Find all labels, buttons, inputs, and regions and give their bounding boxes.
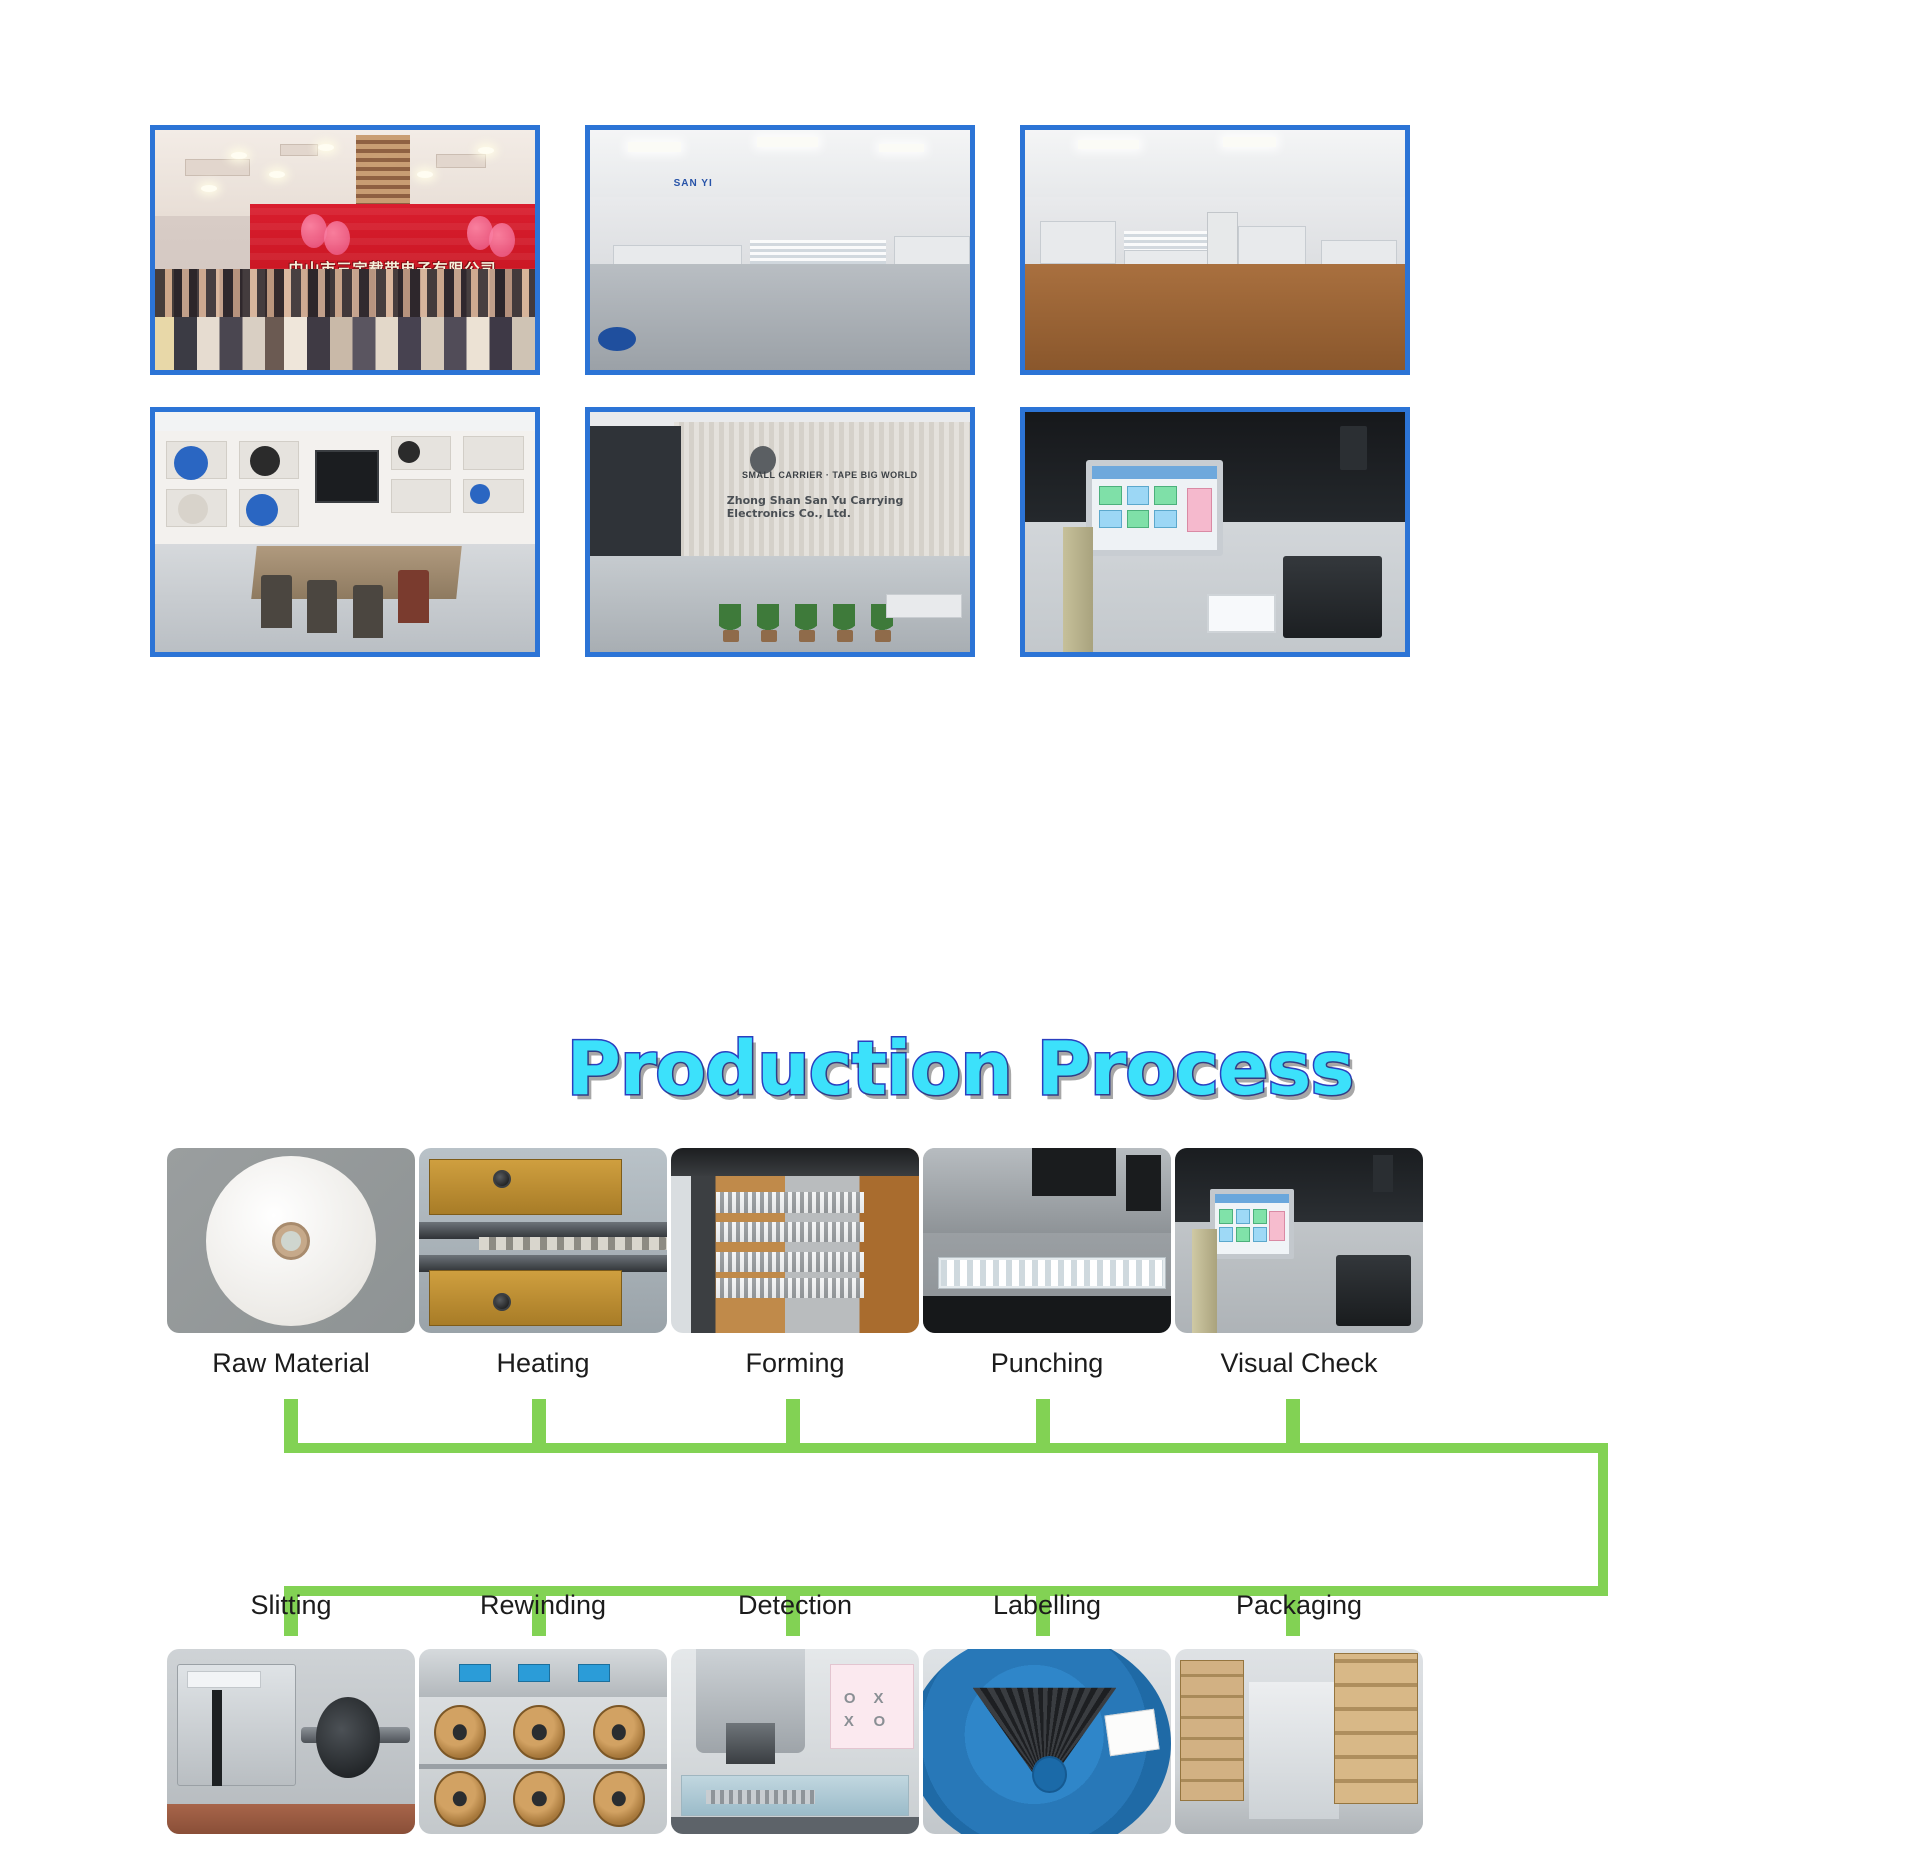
- process-row-bottom: O X X O: [167, 1649, 1427, 1834]
- office-cubicles-2-image: [1025, 130, 1405, 370]
- process-step-label-labelling: Labelling: [923, 1590, 1171, 1621]
- process-step-visual-check[interactable]: Visual Check: [1175, 1148, 1423, 1379]
- process-step-heating[interactable]: Heating: [419, 1148, 667, 1379]
- process-step-raw-material[interactable]: Raw Material: [167, 1148, 415, 1379]
- production-process-title: Production Process: [0, 1032, 1920, 1106]
- gallery-photo-office-cubicles-1[interactable]: SAN YI: [585, 125, 975, 375]
- process-step-label: Forming: [671, 1333, 919, 1379]
- heating-image: [419, 1148, 667, 1333]
- process-step-label-slitting: Slitting: [167, 1590, 415, 1621]
- process-row-top: Raw Material Heating Forming: [167, 1148, 1427, 1379]
- page-root: 中山市三宇载带电子有限公司 SAN YI: [0, 0, 1920, 1860]
- visual-inspection-machine-image: [1025, 412, 1405, 652]
- process-step-label-packaging: Packaging: [1175, 1590, 1423, 1621]
- showroom-meeting-room-image: [155, 412, 535, 652]
- detection-image: O X X O: [671, 1649, 919, 1834]
- company-lobby-image: SMALL CARRIER · TAPE BIG WORLD Zhong Sha…: [590, 412, 970, 652]
- process-step-label: Visual Check: [1175, 1333, 1423, 1379]
- lobby-logo-en: SMALL CARRIER · TAPE BIG WORLD: [742, 470, 918, 480]
- process-step-labelling[interactable]: [923, 1649, 1171, 1834]
- process-step-label-detection: Detection: [671, 1590, 919, 1621]
- slitting-image: [167, 1649, 415, 1834]
- packaging-image: [1175, 1649, 1423, 1834]
- company-photo-gallery: 中山市三宇载带电子有限公司 SAN YI: [150, 125, 1570, 657]
- forming-image: [671, 1148, 919, 1333]
- raw-material-image: [167, 1148, 415, 1333]
- group-photo-image: 中山市三宇载带电子有限公司: [155, 130, 535, 370]
- gallery-photo-group-photo[interactable]: 中山市三宇载带电子有限公司: [150, 125, 540, 375]
- process-row-bottom-labels: Slitting Rewinding Detection Labelling P…: [167, 1590, 1427, 1621]
- rewinding-image: [419, 1649, 667, 1834]
- gallery-photo-showroom-meeting-room[interactable]: [150, 407, 540, 657]
- labelling-image: [923, 1649, 1171, 1834]
- process-step-label-rewinding: Rewinding: [419, 1590, 667, 1621]
- process-step-label: Punching: [923, 1333, 1171, 1379]
- office-cubicles-1-image: SAN YI: [590, 130, 970, 370]
- lobby-company-name: Zhong Shan San Yu Carrying Electronics C…: [727, 494, 970, 520]
- process-step-slitting[interactable]: [167, 1649, 415, 1834]
- process-step-label: Raw Material: [167, 1333, 415, 1379]
- process-step-packaging[interactable]: [1175, 1649, 1423, 1834]
- punching-image: [923, 1148, 1171, 1333]
- process-step-rewinding[interactable]: [419, 1649, 667, 1834]
- visual-check-image: [1175, 1148, 1423, 1333]
- process-step-label: Heating: [419, 1333, 667, 1379]
- gallery-photo-office-cubicles-2[interactable]: [1020, 125, 1410, 375]
- process-step-punching[interactable]: Punching: [923, 1148, 1171, 1379]
- office-wall-logo: SAN YI: [674, 178, 713, 189]
- gallery-photo-company-lobby[interactable]: SMALL CARRIER · TAPE BIG WORLD Zhong Sha…: [585, 407, 975, 657]
- process-step-forming[interactable]: Forming: [671, 1148, 919, 1379]
- process-step-detection[interactable]: O X X O: [671, 1649, 919, 1834]
- gallery-photo-visual-inspection-machine[interactable]: [1020, 407, 1410, 657]
